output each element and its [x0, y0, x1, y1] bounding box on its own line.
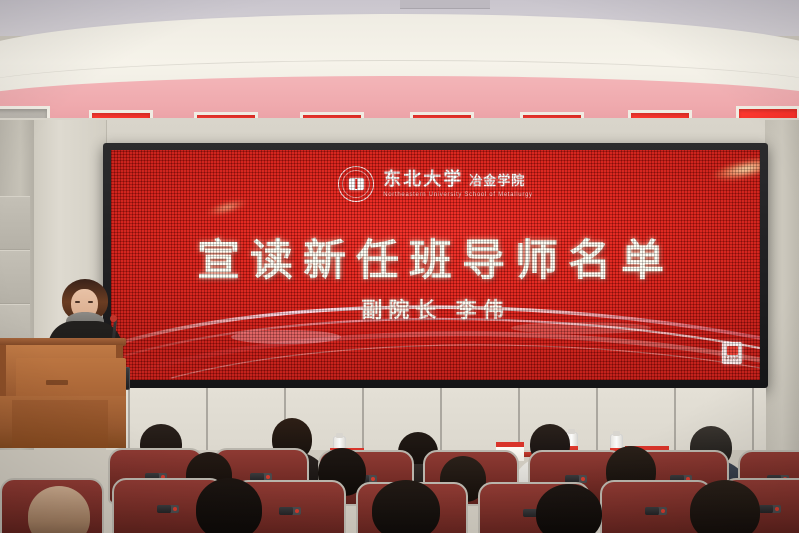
logo-institution-name-en: Northeastern University School of Metall… [383, 192, 533, 198]
logo-department-cn: 冶金学院 [469, 174, 525, 189]
podium-inset-panel [16, 358, 126, 398]
wall-panel-seam [362, 388, 364, 450]
led-screen-surface: 东北大学冶金学院 Northeastern University School … [111, 150, 760, 380]
attendee-head [536, 484, 602, 533]
wall-panel-seam [752, 388, 754, 450]
attendee-head [690, 480, 760, 533]
seat-hardware-icon [279, 507, 301, 515]
bottle-cap [336, 433, 343, 438]
slide-title: 宣读新任班导师名单 [111, 226, 760, 288]
wall-panel-seam [128, 388, 130, 450]
slide-subtitle: 副院长 李伟 [111, 294, 760, 324]
left-wall-panel [0, 196, 30, 250]
podium-base-inset [12, 400, 108, 448]
book-icon [349, 178, 364, 190]
back-wall-paneling [106, 388, 766, 450]
ceiling-vent [400, 0, 490, 9]
wall-panel-seam [674, 388, 676, 450]
bottle-cap [568, 429, 575, 434]
auditorium-photo: 东北大学冶金学院 Northeastern University School … [0, 0, 799, 533]
wall-panel-seam [206, 388, 208, 450]
podium-front-panel [0, 345, 123, 397]
speaker-eye [75, 301, 80, 303]
seat-hardware-icon [759, 505, 781, 513]
watermark-caption: 东北大学 [725, 356, 739, 360]
screen-watermark: 东北大学 [722, 342, 742, 364]
left-wall-panel [0, 250, 30, 304]
logo-text-block: 东北大学冶金学院 Northeastern University School … [383, 171, 533, 198]
led-screen: 东北大学冶金学院 Northeastern University School … [103, 143, 768, 388]
seat-hardware-icon [157, 505, 179, 513]
wall-panel-seam [440, 388, 442, 450]
logo-institution-cn: 东北大学 [383, 169, 463, 190]
attendee-head [196, 478, 262, 533]
podium [0, 338, 126, 448]
screen-logo-block: 东北大学冶金学院 Northeastern University School … [111, 166, 760, 202]
speaker-eye [88, 301, 93, 303]
microphone-icon [110, 315, 117, 322]
wall-panel-seam [518, 388, 520, 450]
podium-emblem [46, 380, 68, 385]
logo-institution-name: 东北大学冶金学院 [383, 171, 525, 189]
watermark-mark-icon [727, 346, 738, 355]
bottle-cap [613, 431, 620, 436]
seat-hardware-icon [645, 507, 667, 515]
right-wall-column [765, 120, 799, 450]
attendee-head [372, 480, 440, 533]
wall-panel-seam [596, 388, 598, 450]
university-seal-icon [338, 166, 374, 202]
